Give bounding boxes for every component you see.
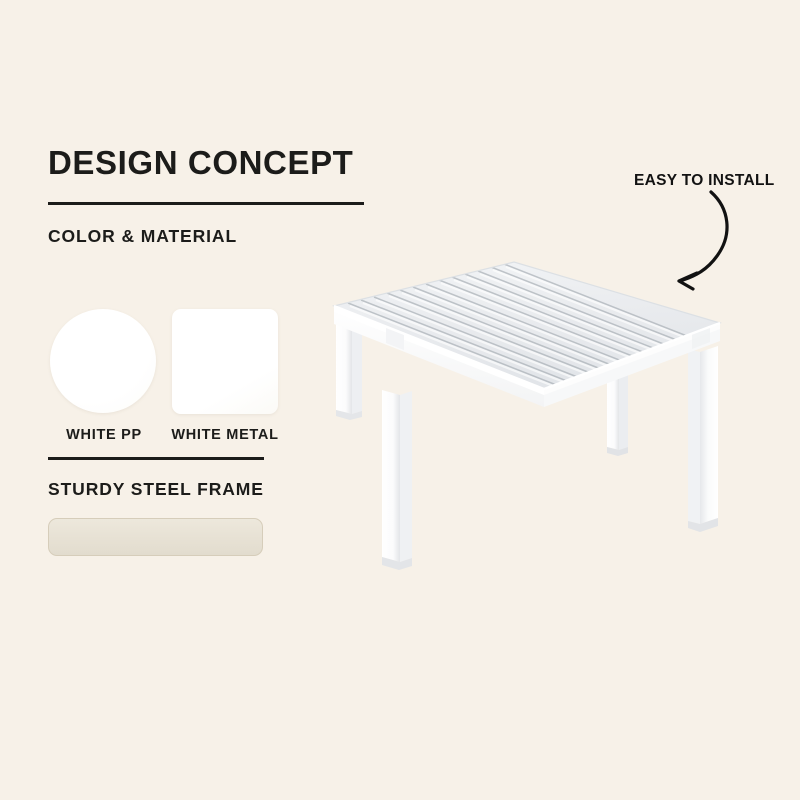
- swatch-white-pp: [50, 309, 156, 413]
- infographic-canvas: DESIGN CONCEPT COLOR & MATERIAL WHITE PP…: [0, 0, 800, 800]
- table-leg-front-right: [688, 346, 718, 532]
- steel-frame-swatch-bar: [48, 518, 263, 556]
- table-leg-front-left: [382, 390, 412, 570]
- callout-label-easy-to-install: EASY TO INSTALL: [634, 173, 775, 189]
- title-divider: [48, 202, 364, 205]
- section-heading-steel-frame: STURDY STEEL FRAME: [48, 481, 264, 499]
- swatch-label-white-pp: WHITE PP: [48, 428, 160, 443]
- section-heading-color-material: COLOR & MATERIAL: [48, 228, 237, 246]
- swatch-label-white-metal: WHITE METAL: [166, 428, 284, 443]
- table-top: [334, 262, 720, 389]
- section-divider: [48, 457, 264, 460]
- page-title: DESIGN CONCEPT: [48, 146, 353, 179]
- swatch-row: [48, 309, 280, 415]
- swatch-white-metal: [172, 309, 278, 414]
- product-image-dining-table: [300, 250, 770, 590]
- table-top-slats: [334, 262, 720, 389]
